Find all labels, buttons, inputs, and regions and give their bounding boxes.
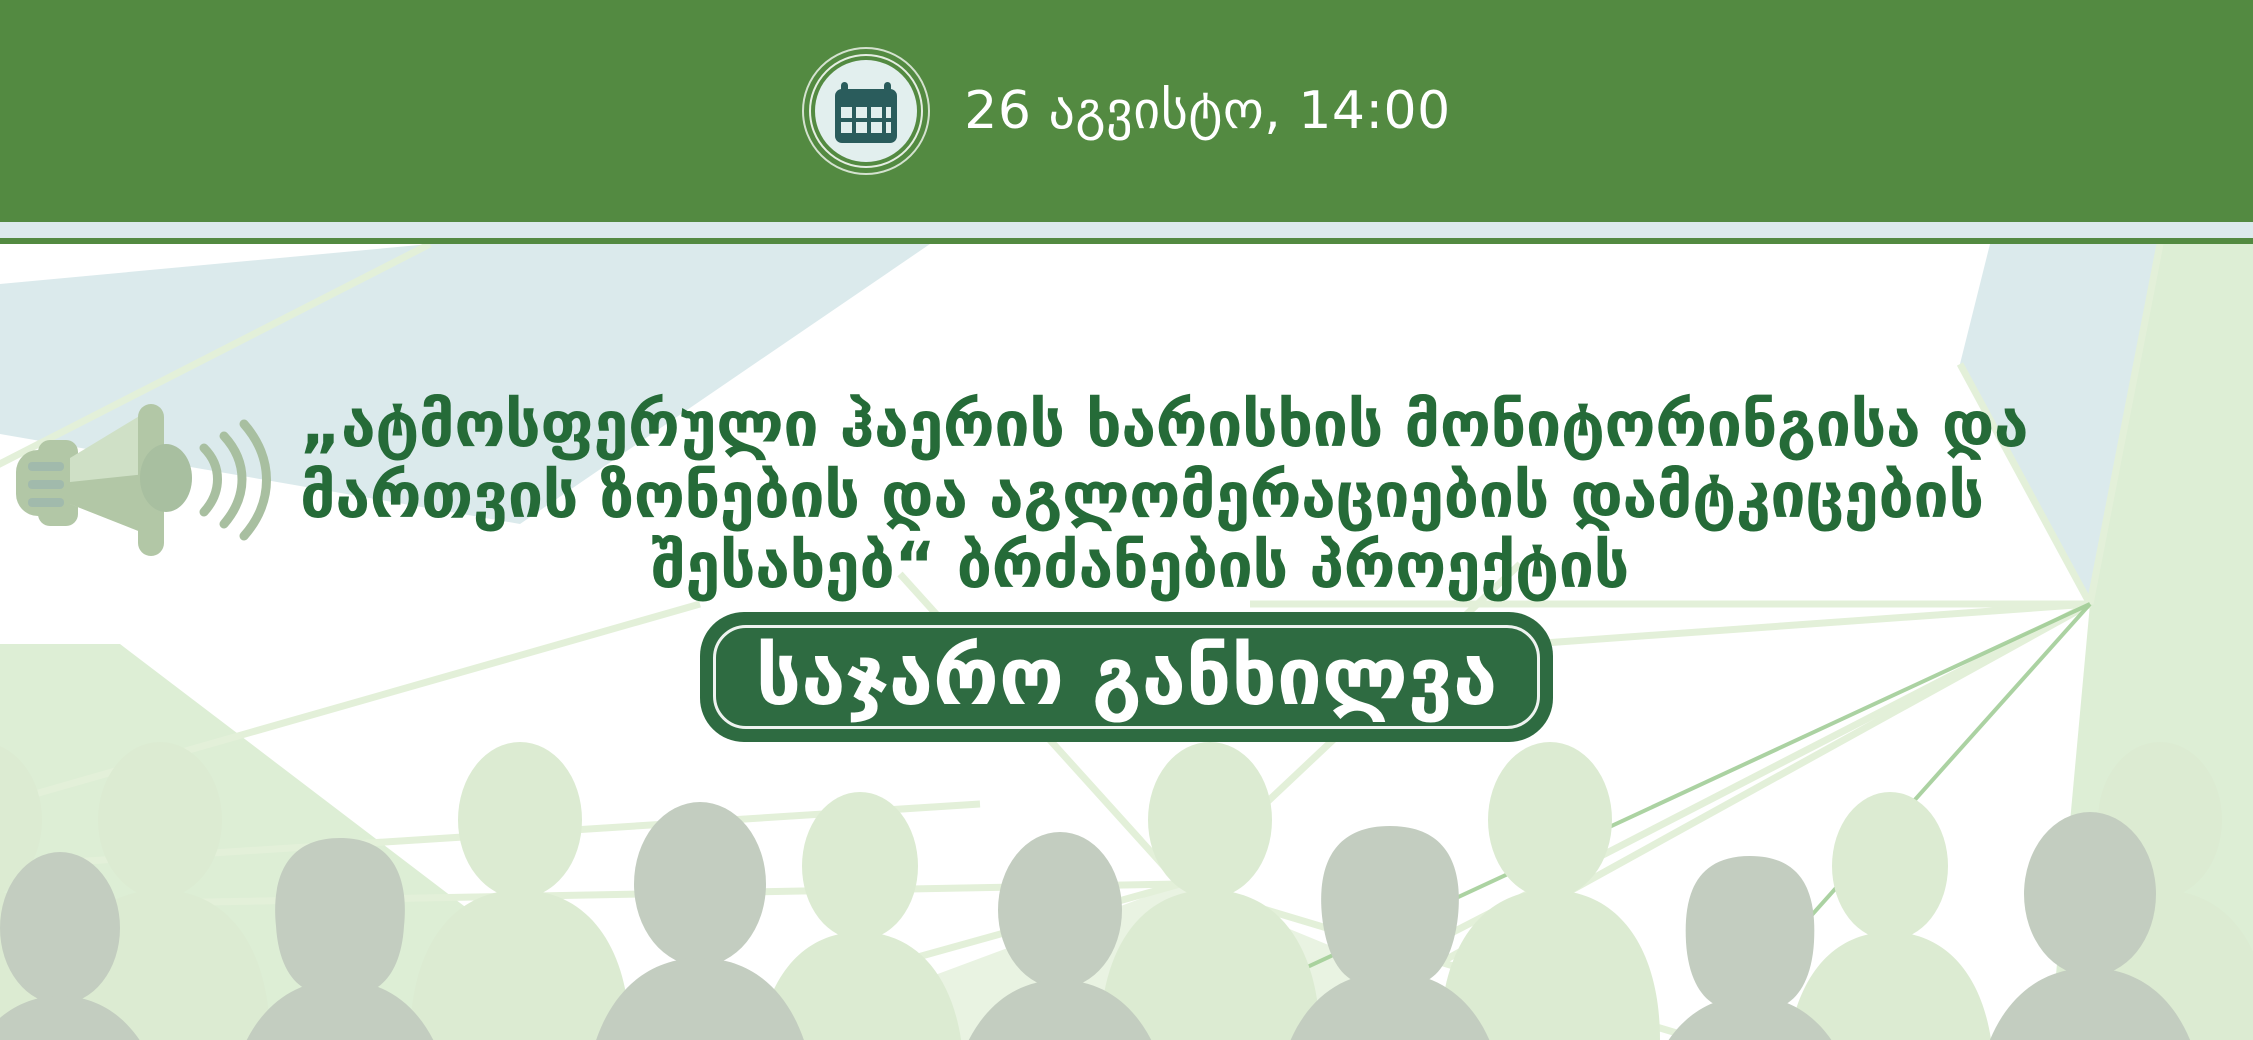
megaphone-icon — [8, 392, 308, 582]
header-content: 26 აგვისტო, 14:00 — [0, 0, 2253, 222]
crowd-silhouettes — [0, 710, 2253, 1040]
title-line-1: „ატმოსფერული ჰაერის ხარისხის მონიტორინგი… — [300, 390, 1980, 461]
title-line-3: შესახებ“ ბრძანების პროექტის — [300, 531, 1980, 602]
event-date-time: 26 აგვისტო, 14:00 — [964, 85, 1450, 137]
header-bar: 26 აგვისტო, 14:00 — [0, 0, 2253, 222]
title-line-2: მართვის ზონების და აგლომერაციების დამტკი… — [300, 461, 1980, 532]
public-discussion-button[interactable]: საჯარო განხილვა — [700, 612, 1554, 742]
event-announcement-banner: 26 აგვისტო, 14:00 „ატმოსფერული ჰაერის ხა… — [0, 0, 2253, 1040]
megaphone-cone-shade — [70, 474, 146, 534]
megaphone-waves — [204, 424, 267, 536]
header-divider-rule — [0, 238, 2253, 244]
calendar-icon — [815, 60, 917, 162]
public-discussion-label: საჯარო განხილვა — [756, 634, 1498, 720]
header-divider-band — [0, 222, 2253, 238]
calendar-badge — [802, 47, 930, 175]
cta-container: საჯარო განხილვა — [0, 612, 2253, 742]
page-title: „ატმოსფერული ჰაერის ხარისხის მონიტორინგი… — [300, 390, 1980, 602]
megaphone-handle — [16, 440, 78, 526]
megaphone-mouth — [140, 444, 192, 512]
